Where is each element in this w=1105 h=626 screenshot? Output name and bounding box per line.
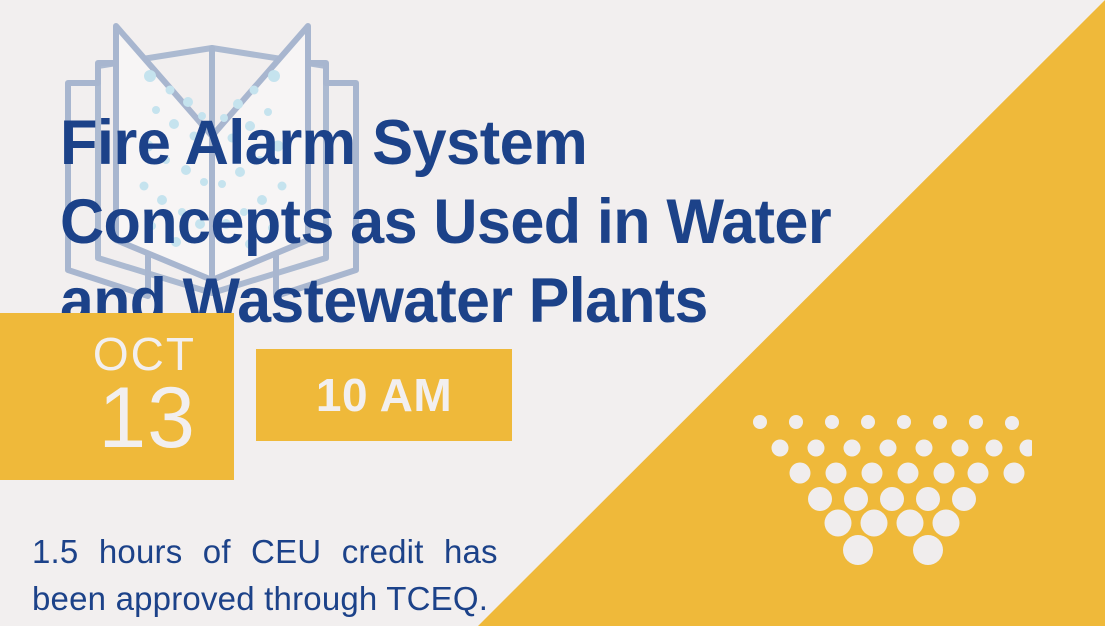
event-promo-poster: Fire Alarm System Concepts as Used in Wa…: [0, 0, 1105, 626]
ceu-credit-note-line-1: 1.5 hours of CEU credit has: [32, 528, 532, 575]
page-title: Fire Alarm System Concepts as Used in Wa…: [60, 104, 855, 341]
page-title-line-1: Fire Alarm System: [60, 104, 835, 183]
ceu-credit-note-line-2: been approved through TCEQ.: [32, 575, 532, 622]
event-time-block: 10 AM: [256, 349, 512, 441]
page-title-line-2: Concepts as Used in Water: [60, 183, 831, 262]
event-day: 13: [98, 375, 196, 461]
ceu-credit-note: 1.5 hours of CEU credit has been approve…: [32, 528, 532, 622]
event-date-block: OCT 13: [0, 313, 234, 480]
dot-triangle-pattern: [742, 410, 1032, 570]
event-time: 10 AM: [316, 368, 452, 422]
